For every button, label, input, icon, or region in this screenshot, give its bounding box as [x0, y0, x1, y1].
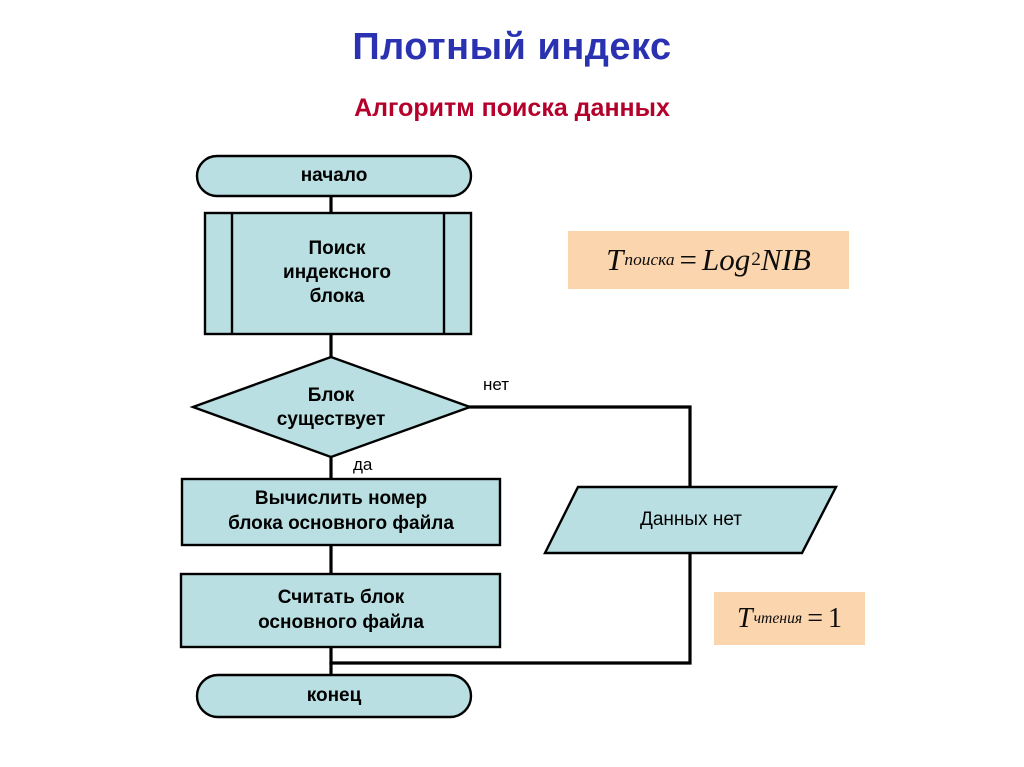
formula-read-subscript: чтения: [753, 610, 803, 628]
formula-search-subscript: поиска: [623, 250, 674, 270]
node-search-index-block[interactable]: [205, 213, 471, 334]
node-end[interactable]: [197, 675, 471, 717]
formula-read-time: Tчтения=1: [714, 592, 865, 645]
formula-search-base: 2: [750, 249, 761, 271]
slide-canvas: Плотный индекс Алгоритм поиска данных: [0, 0, 1024, 767]
node-no-data[interactable]: [545, 487, 836, 553]
formula-read-value: 1: [828, 603, 842, 635]
formula-search-operator: =: [675, 242, 702, 278]
formula-read-variable: T: [737, 603, 753, 635]
formula-read-operator: =: [802, 603, 828, 635]
node-calc-block-number[interactable]: [182, 479, 500, 545]
node-decision-block-exists[interactable]: [193, 357, 470, 457]
node-read-block[interactable]: [181, 574, 500, 647]
formula-search-time: Tпоиска=Log2NIB: [568, 231, 849, 289]
node-start[interactable]: [197, 156, 471, 196]
formula-search-argument: NIB: [761, 242, 811, 278]
formula-search-variable: T: [606, 242, 623, 278]
formula-search-function: Log: [702, 242, 750, 278]
flowchart-canvas: [0, 0, 1024, 767]
